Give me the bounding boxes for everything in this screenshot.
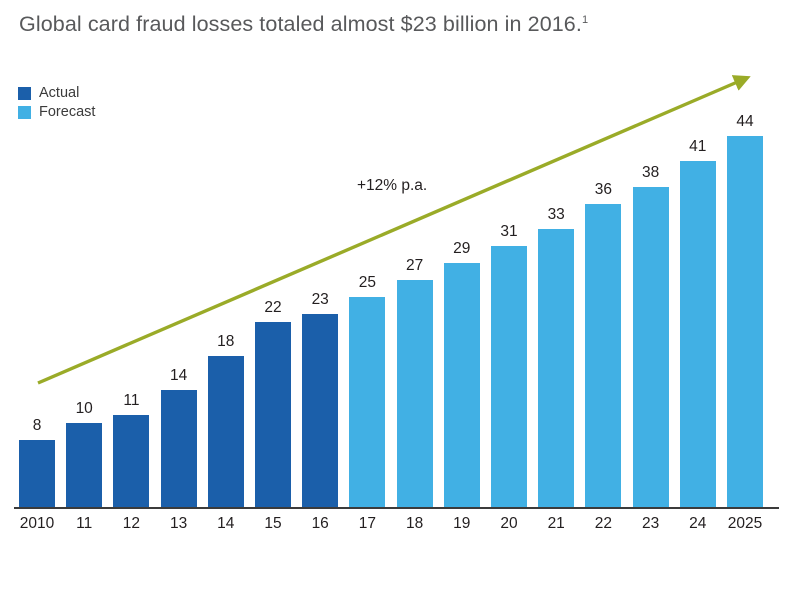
- bar-12: [113, 415, 149, 508]
- bar-value-label: 36: [575, 181, 631, 199]
- bar-value-label: 18: [198, 333, 254, 351]
- bar-17: [349, 297, 385, 508]
- growth-annotation: +12% p.a.: [357, 177, 427, 195]
- bar-value-label: 8: [9, 417, 65, 435]
- bar-23: [633, 187, 669, 508]
- bar-2010: [19, 440, 55, 508]
- bar-value-label: 41: [670, 138, 726, 156]
- bar-value-label: 38: [623, 164, 679, 182]
- bar-2025: [727, 136, 763, 508]
- bar-value-label: 44: [717, 113, 773, 131]
- bar-18: [397, 280, 433, 508]
- bar-13: [161, 390, 197, 508]
- bar-value-label: 31: [481, 223, 537, 241]
- x-axis-tick-2025: 2025: [715, 515, 775, 533]
- bar-value-label: 14: [151, 367, 207, 385]
- bar-value-label: 25: [339, 274, 395, 292]
- bar-21: [538, 229, 574, 508]
- x-axis-line: [14, 507, 779, 509]
- bar-value-label: 11: [103, 392, 159, 410]
- bar-16: [302, 314, 338, 508]
- bar-value-label: 33: [528, 206, 584, 224]
- bar-11: [66, 423, 102, 508]
- bar-value-label: 23: [292, 291, 348, 309]
- bar-24: [680, 161, 716, 508]
- bar-19: [444, 263, 480, 508]
- bar-value-label: 27: [387, 257, 443, 275]
- chart-canvas: Global card fraud losses totaled almost …: [0, 0, 800, 600]
- bar-22: [585, 204, 621, 508]
- plot-area: 8201010111112141318142215231625172718291…: [0, 0, 800, 600]
- bar-15: [255, 322, 291, 508]
- bar-14: [208, 356, 244, 508]
- bar-value-label: 29: [434, 240, 490, 258]
- bar-20: [491, 246, 527, 508]
